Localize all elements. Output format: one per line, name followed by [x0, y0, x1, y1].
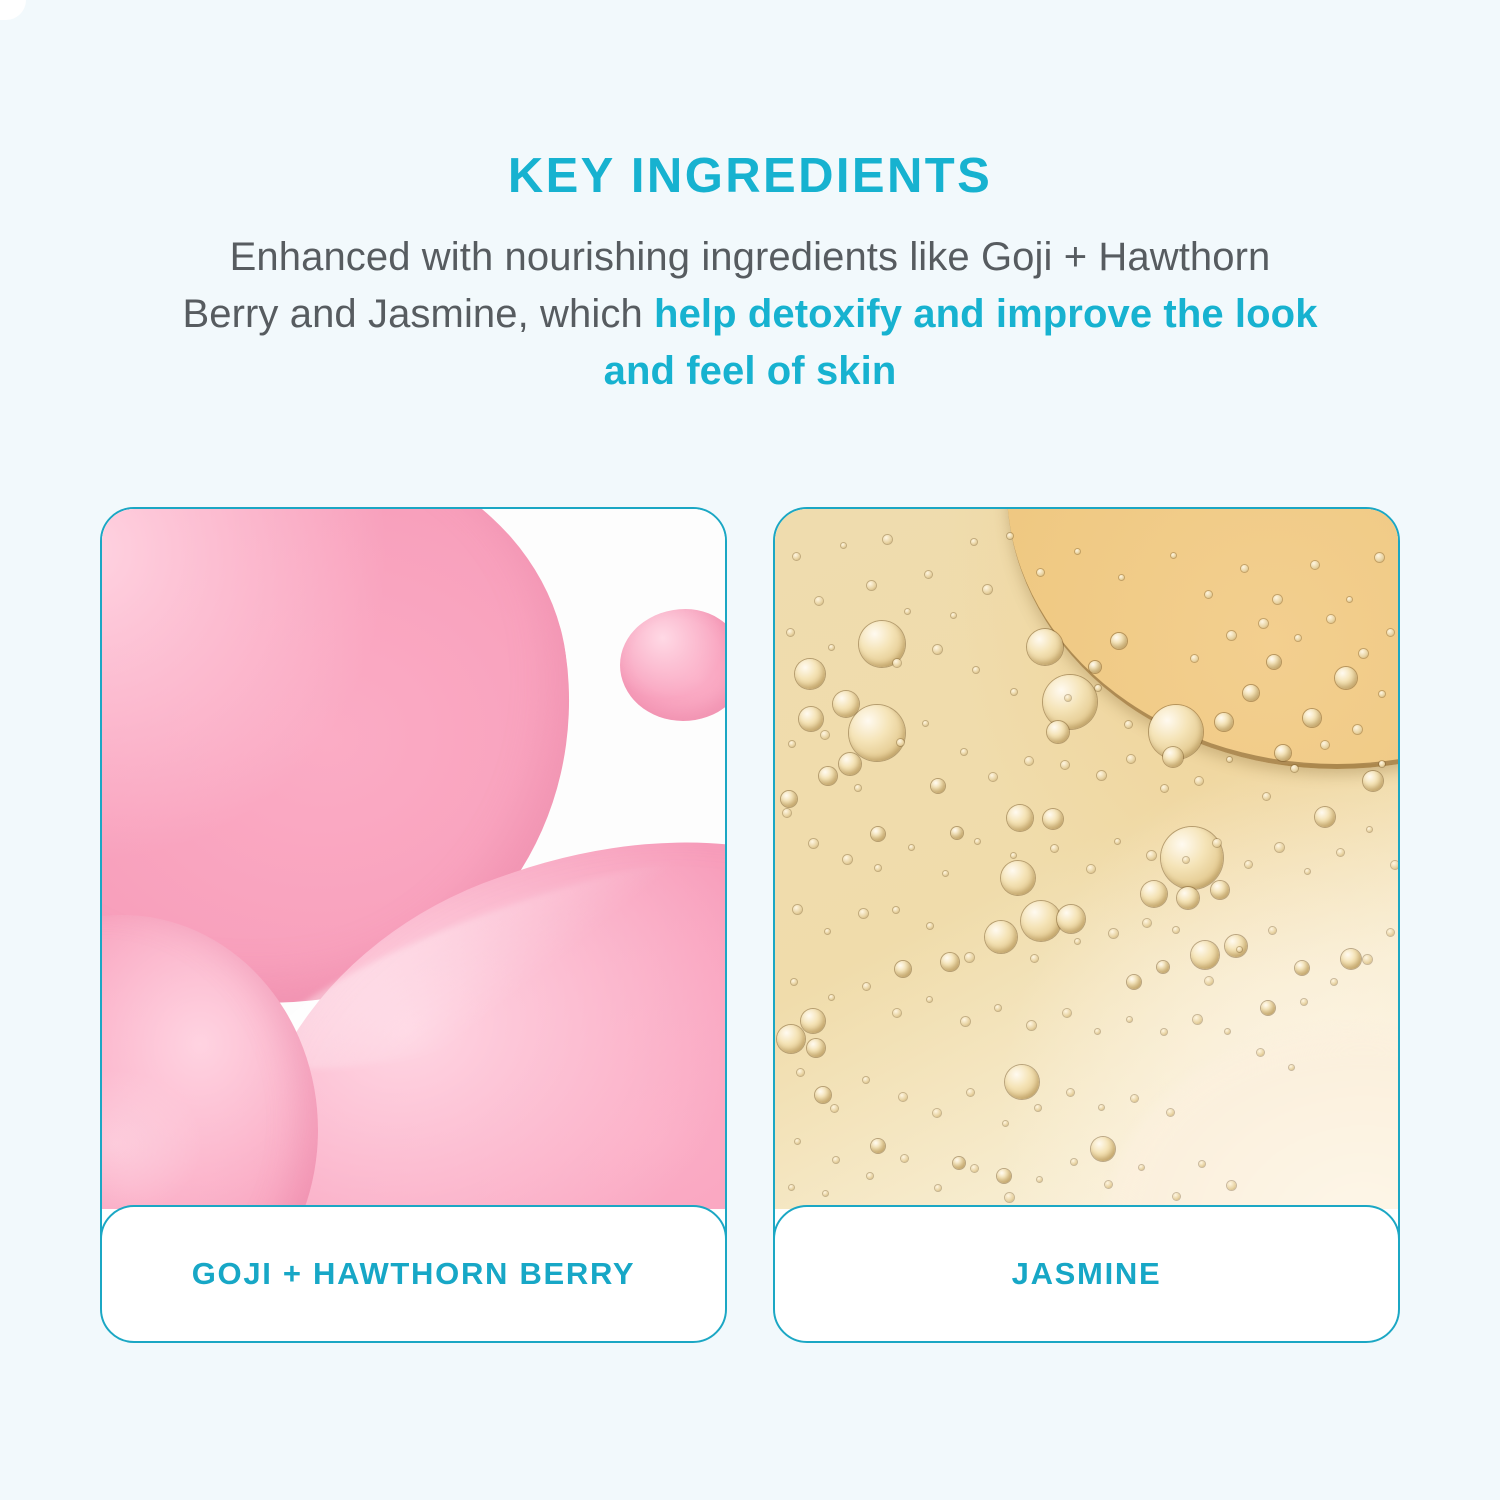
golden-oil-bubble	[985, 921, 1017, 953]
golden-oil-bubble-tiny	[1337, 849, 1344, 856]
golden-oil-bubble	[1261, 1001, 1275, 1015]
ingredient-caption-bar: JASMINE	[773, 1205, 1400, 1343]
golden-oil-bubble	[833, 691, 859, 717]
golden-oil-bubble-tiny	[1227, 757, 1232, 762]
golden-oil-bubble-tiny	[933, 1109, 941, 1117]
golden-oil-bubble	[1315, 807, 1335, 827]
golden-oil-bubble-tiny	[973, 667, 979, 673]
golden-oil-bubble-tiny	[1205, 977, 1213, 985]
golden-oil-bubble	[1127, 975, 1141, 989]
golden-oil-bubble-tiny	[1067, 1089, 1074, 1096]
golden-oil-bubble	[941, 953, 959, 971]
golden-oil-bubbles-macro-image	[775, 509, 1398, 1209]
golden-oil-bubble	[815, 1087, 831, 1103]
golden-oil-bubble	[1047, 721, 1069, 743]
golden-oil-bubble	[1007, 805, 1033, 831]
golden-oil-bubble-tiny	[829, 645, 834, 650]
golden-oil-bubble-tiny	[1065, 695, 1071, 701]
golden-oil-bubble	[1141, 881, 1167, 907]
golden-oil-bubble-tiny	[1227, 1181, 1236, 1190]
golden-oil-bubble-tiny	[1109, 929, 1118, 938]
golden-oil-bubble-tiny	[1075, 549, 1080, 554]
golden-oil-bubble-tiny	[1321, 741, 1329, 749]
golden-oil-bubble-tiny	[795, 1139, 800, 1144]
golden-oil-bubble-tiny	[1037, 569, 1044, 576]
golden-oil-bubble-tiny	[925, 571, 932, 578]
golden-oil-bubble-tiny	[793, 905, 802, 914]
golden-oil-bubble-tiny	[1161, 785, 1168, 792]
golden-oil-bubble-tiny	[971, 1165, 978, 1172]
golden-oil-bubble-tiny	[1353, 725, 1362, 734]
golden-oil-bubble-tiny	[1289, 1065, 1294, 1070]
header: KEY INGREDIENTS Enhanced with nourishing…	[0, 0, 1500, 399]
golden-oil-bubble-tiny	[1379, 691, 1385, 697]
golden-oil-bubble-tiny	[825, 929, 830, 934]
golden-oil-bubble-tiny	[867, 581, 876, 590]
golden-oil-bubble-tiny	[1193, 1015, 1202, 1024]
golden-oil-bubble-tiny	[1099, 1105, 1104, 1110]
golden-oil-bubble-tiny	[943, 871, 948, 876]
golden-oil-bubble-tiny	[1127, 755, 1135, 763]
golden-oil-bubble-tiny	[1305, 869, 1310, 874]
golden-oil-cream-pool-bottom-right	[1105, 1029, 1398, 1209]
golden-oil-bubble	[1191, 941, 1219, 969]
golden-oil-bubble-tiny	[867, 1173, 873, 1179]
golden-oil-bubble-tiny	[1195, 777, 1203, 785]
golden-oil-bubble	[1243, 685, 1259, 701]
golden-oil-bubble-tiny	[1273, 595, 1282, 604]
ingredient-card-goji-hawthorn-berry[interactable]: GOJI + HAWTHORN BERRY	[100, 507, 727, 1343]
golden-oil-bubble-tiny	[1259, 619, 1268, 628]
golden-oil-bubble	[997, 1169, 1011, 1183]
golden-oil-bubble-tiny	[1257, 1049, 1264, 1056]
golden-oil-bubble	[1275, 745, 1291, 761]
golden-oil-bubble-tiny	[935, 1185, 941, 1191]
golden-oil-bubble-tiny	[927, 997, 932, 1002]
golden-oil-bubble-tiny	[1075, 939, 1080, 944]
golden-oil-bubble-tiny	[1241, 565, 1248, 572]
golden-oil-bubble-tiny	[901, 1155, 908, 1162]
golden-oil-bubble-tiny	[975, 839, 980, 844]
golden-oil-bubble-tiny	[1167, 1109, 1174, 1116]
golden-oil-bubble-tiny	[1025, 757, 1033, 765]
golden-oil-bubble-tiny	[783, 809, 791, 817]
golden-oil-bubble-tiny	[797, 1069, 804, 1076]
golden-oil-bubble-tiny	[1191, 655, 1198, 662]
golden-oil-bubble-tiny	[883, 535, 892, 544]
golden-oil-bubble-tiny	[1147, 851, 1156, 860]
golden-oil-bubble-tiny	[1367, 827, 1372, 832]
golden-oil-bubble-tiny	[787, 629, 794, 636]
golden-oil-bubble	[951, 827, 963, 839]
golden-oil-bubble	[1027, 629, 1063, 665]
golden-oil-bubble-tiny	[1379, 761, 1385, 767]
golden-oil-bubble-tiny	[1131, 1095, 1138, 1102]
golden-oil-bubble-tiny	[1227, 631, 1236, 640]
golden-oil-bubble	[1215, 713, 1233, 731]
golden-oil-bubble-tiny	[1263, 793, 1270, 800]
golden-oil-bubble-tiny	[1359, 649, 1368, 658]
golden-oil-bubble-tiny	[821, 731, 829, 739]
golden-oil-bubble	[1021, 901, 1061, 941]
golden-oil-bubble-tiny	[905, 609, 910, 614]
golden-oil-bubble	[1057, 905, 1085, 933]
golden-oil-bubble-tiny	[893, 907, 899, 913]
golden-oil-bubble-tiny	[863, 1077, 869, 1083]
golden-oil-bubble-tiny	[1311, 561, 1319, 569]
golden-oil-bubble-tiny	[1245, 861, 1252, 868]
golden-oil-bubble-tiny	[961, 749, 967, 755]
golden-oil-bubble-tiny	[923, 721, 928, 726]
golden-oil-bubble-tiny	[1347, 597, 1352, 602]
golden-oil-bubble-tiny	[1011, 853, 1016, 858]
pink-droplet-small-top-right	[620, 609, 725, 721]
golden-oil-bubble	[801, 1009, 825, 1033]
golden-oil-bubble-tiny	[1269, 927, 1276, 934]
golden-oil-bubble-tiny	[1291, 765, 1298, 772]
golden-oil-bubble	[1211, 881, 1229, 899]
golden-oil-bubble-tiny	[1173, 927, 1179, 933]
golden-oil-bubble	[931, 779, 945, 793]
golden-oil-bubble-tiny	[1237, 947, 1242, 952]
golden-oil-bubble-tiny	[1007, 533, 1013, 539]
golden-oil-bubble-tiny	[995, 1005, 1001, 1011]
golden-oil-bubble-tiny	[951, 613, 956, 618]
ingredient-caption-bar: GOJI + HAWTHORN BERRY	[100, 1205, 727, 1343]
golden-oil-bubble-tiny	[1097, 771, 1106, 780]
golden-oil-bubble	[1089, 661, 1101, 673]
golden-oil-scene	[775, 509, 1398, 1209]
golden-oil-bubble-tiny	[829, 995, 834, 1000]
golden-oil-bubble-tiny	[933, 645, 942, 654]
golden-oil-bubble	[1001, 861, 1035, 895]
golden-oil-bubble-tiny	[1143, 919, 1151, 927]
golden-oil-bubble-tiny	[899, 1093, 907, 1101]
golden-oil-bubble	[1005, 1065, 1039, 1099]
ingredient-label-jasmine: JASMINE	[1012, 1256, 1162, 1292]
golden-oil-bubble-tiny	[1205, 591, 1212, 598]
golden-oil-bubble	[871, 827, 885, 841]
golden-oil-bubble	[953, 1157, 965, 1169]
golden-oil-bubble-tiny	[1027, 1021, 1036, 1030]
golden-oil-bubble-tiny	[1171, 553, 1176, 558]
golden-oil-bubble	[1225, 935, 1247, 957]
golden-oil-bubble-tiny	[823, 1191, 828, 1196]
golden-oil-bubble	[1363, 771, 1383, 791]
ingredient-card-jasmine[interactable]: JASMINE	[773, 507, 1400, 1343]
golden-oil-bubble-tiny	[855, 785, 861, 791]
golden-oil-bubble-tiny	[961, 1017, 970, 1026]
golden-oil-bubble	[1177, 887, 1199, 909]
golden-oil-bubble	[895, 961, 911, 977]
golden-oil-bubble-tiny	[815, 597, 823, 605]
subtitle-highlight-text: help detoxify and improve the look and f…	[604, 292, 1318, 393]
golden-oil-bubble-tiny	[1387, 629, 1394, 636]
golden-oil-bubble-tiny	[897, 739, 904, 746]
golden-oil-bubble-tiny	[1125, 721, 1132, 728]
golden-oil-bubble-tiny	[1199, 1161, 1205, 1167]
golden-oil-bubble-tiny	[1063, 1009, 1071, 1017]
golden-oil-bubble	[1341, 949, 1361, 969]
golden-oil-bubble	[871, 1139, 885, 1153]
golden-oil-bubble-tiny	[1035, 1105, 1041, 1111]
golden-oil-bubble-tiny	[831, 1105, 838, 1112]
golden-oil-bubble-tiny	[1119, 575, 1124, 580]
golden-oil-bubble-tiny	[793, 553, 800, 560]
golden-oil-bubble-tiny	[1037, 1177, 1042, 1182]
golden-oil-bubble-tiny	[1161, 1029, 1167, 1035]
golden-oil-bubble-tiny	[1105, 1181, 1112, 1188]
golden-oil-bubble-tiny	[1095, 685, 1101, 691]
golden-oil-bubble-tiny	[809, 839, 818, 848]
golden-oil-bubble-tiny	[789, 741, 795, 747]
golden-oil-bubble	[839, 753, 861, 775]
golden-oil-bubble-tiny	[789, 1185, 794, 1190]
pink-oil-scene	[102, 509, 725, 1209]
golden-oil-bubble-tiny	[833, 1157, 839, 1163]
golden-oil-bubble-tiny	[1011, 689, 1017, 695]
golden-oil-bubble-tiny	[875, 865, 881, 871]
golden-oil-bubble-tiny	[1213, 839, 1221, 847]
golden-oil-bubble-tiny	[843, 855, 852, 864]
golden-oil-bubble-tiny	[1005, 1193, 1014, 1202]
golden-oil-bubble	[1043, 675, 1097, 729]
golden-oil-bubble	[1157, 961, 1169, 973]
golden-oil-bubble	[1043, 809, 1063, 829]
golden-oil-bubble-tiny	[1387, 929, 1394, 936]
golden-oil-bubble-tiny	[1183, 857, 1189, 863]
golden-oil-bubble-tiny	[971, 539, 977, 545]
golden-oil-bubble	[781, 791, 797, 807]
golden-oil-bubble-tiny	[791, 979, 797, 985]
golden-oil-bubble-tiny	[1331, 979, 1337, 985]
golden-oil-bubble-tiny	[1139, 1165, 1144, 1170]
golden-oil-bubble-tiny	[1087, 865, 1095, 873]
golden-oil-bubble-tiny	[1071, 1159, 1077, 1165]
golden-oil-bubble	[1111, 633, 1127, 649]
pink-oil-droplets-macro-image	[102, 509, 725, 1209]
golden-oil-bubble-tiny	[1295, 635, 1301, 641]
page-title: KEY INGREDIENTS	[0, 152, 1500, 201]
golden-oil-bubble-tiny	[1327, 615, 1335, 623]
golden-oil-bubble	[777, 1025, 805, 1053]
golden-oil-bubble	[1161, 827, 1223, 889]
golden-oil-bubble-tiny	[1301, 999, 1307, 1005]
golden-oil-bubble-tiny	[893, 659, 901, 667]
golden-oil-bubble	[819, 767, 837, 785]
golden-oil-bubble	[795, 659, 825, 689]
golden-oil-bubble	[1295, 961, 1309, 975]
ingredient-card-grid: GOJI + HAWTHORN BERRY JASMINE	[100, 507, 1400, 1343]
golden-oil-bubble-tiny	[1051, 845, 1058, 852]
golden-oil-bubble-tiny	[893, 1009, 901, 1017]
golden-oil-bubble-tiny	[1003, 1121, 1008, 1126]
golden-oil-bubble-tiny	[1225, 1029, 1230, 1034]
golden-oil-bubble-tiny	[1061, 761, 1069, 769]
golden-oil-bubble-tiny	[841, 543, 846, 548]
ingredient-label-goji-hawthorn-berry: GOJI + HAWTHORN BERRY	[192, 1256, 636, 1292]
golden-oil-bubble-tiny	[983, 585, 992, 594]
golden-oil-bubble-tiny	[1115, 839, 1120, 844]
subtitle: Enhanced with nourishing ingredients lik…	[180, 229, 1320, 399]
pink-droplet-highlight-streak	[102, 509, 137, 569]
golden-oil-bubble-tiny	[1095, 1029, 1100, 1034]
key-ingredients-panel: KEY INGREDIENTS Enhanced with nourishing…	[0, 0, 1500, 1500]
golden-oil-bubble	[1163, 747, 1183, 767]
golden-oil-bubble	[807, 1039, 825, 1057]
golden-oil-bubble-tiny	[863, 983, 870, 990]
golden-oil-bubble-tiny	[965, 953, 974, 962]
golden-oil-bubble-tiny	[989, 773, 997, 781]
golden-oil-bubble	[799, 707, 823, 731]
golden-oil-bubble-tiny	[1127, 1017, 1132, 1022]
golden-oil-bubble-tiny	[1391, 861, 1398, 869]
golden-oil-bubble-tiny	[1275, 843, 1284, 852]
golden-oil-bubble-tiny	[1363, 955, 1372, 964]
golden-oil-bubble	[1303, 709, 1321, 727]
golden-oil-bubble-tiny	[967, 1089, 974, 1096]
golden-oil-bubble-tiny	[1031, 955, 1038, 962]
golden-oil-bubble	[1267, 655, 1281, 669]
golden-oil-bubble-tiny	[909, 845, 914, 850]
golden-oil-bubble-tiny	[927, 923, 933, 929]
golden-oil-bubble-tiny	[1375, 553, 1384, 562]
golden-oil-bubble-tiny	[859, 909, 868, 918]
golden-oil-bubble	[1335, 667, 1357, 689]
golden-oil-bubble	[1091, 1137, 1115, 1161]
golden-oil-bubble	[849, 705, 905, 761]
golden-oil-bubble-tiny	[1173, 1193, 1180, 1200]
